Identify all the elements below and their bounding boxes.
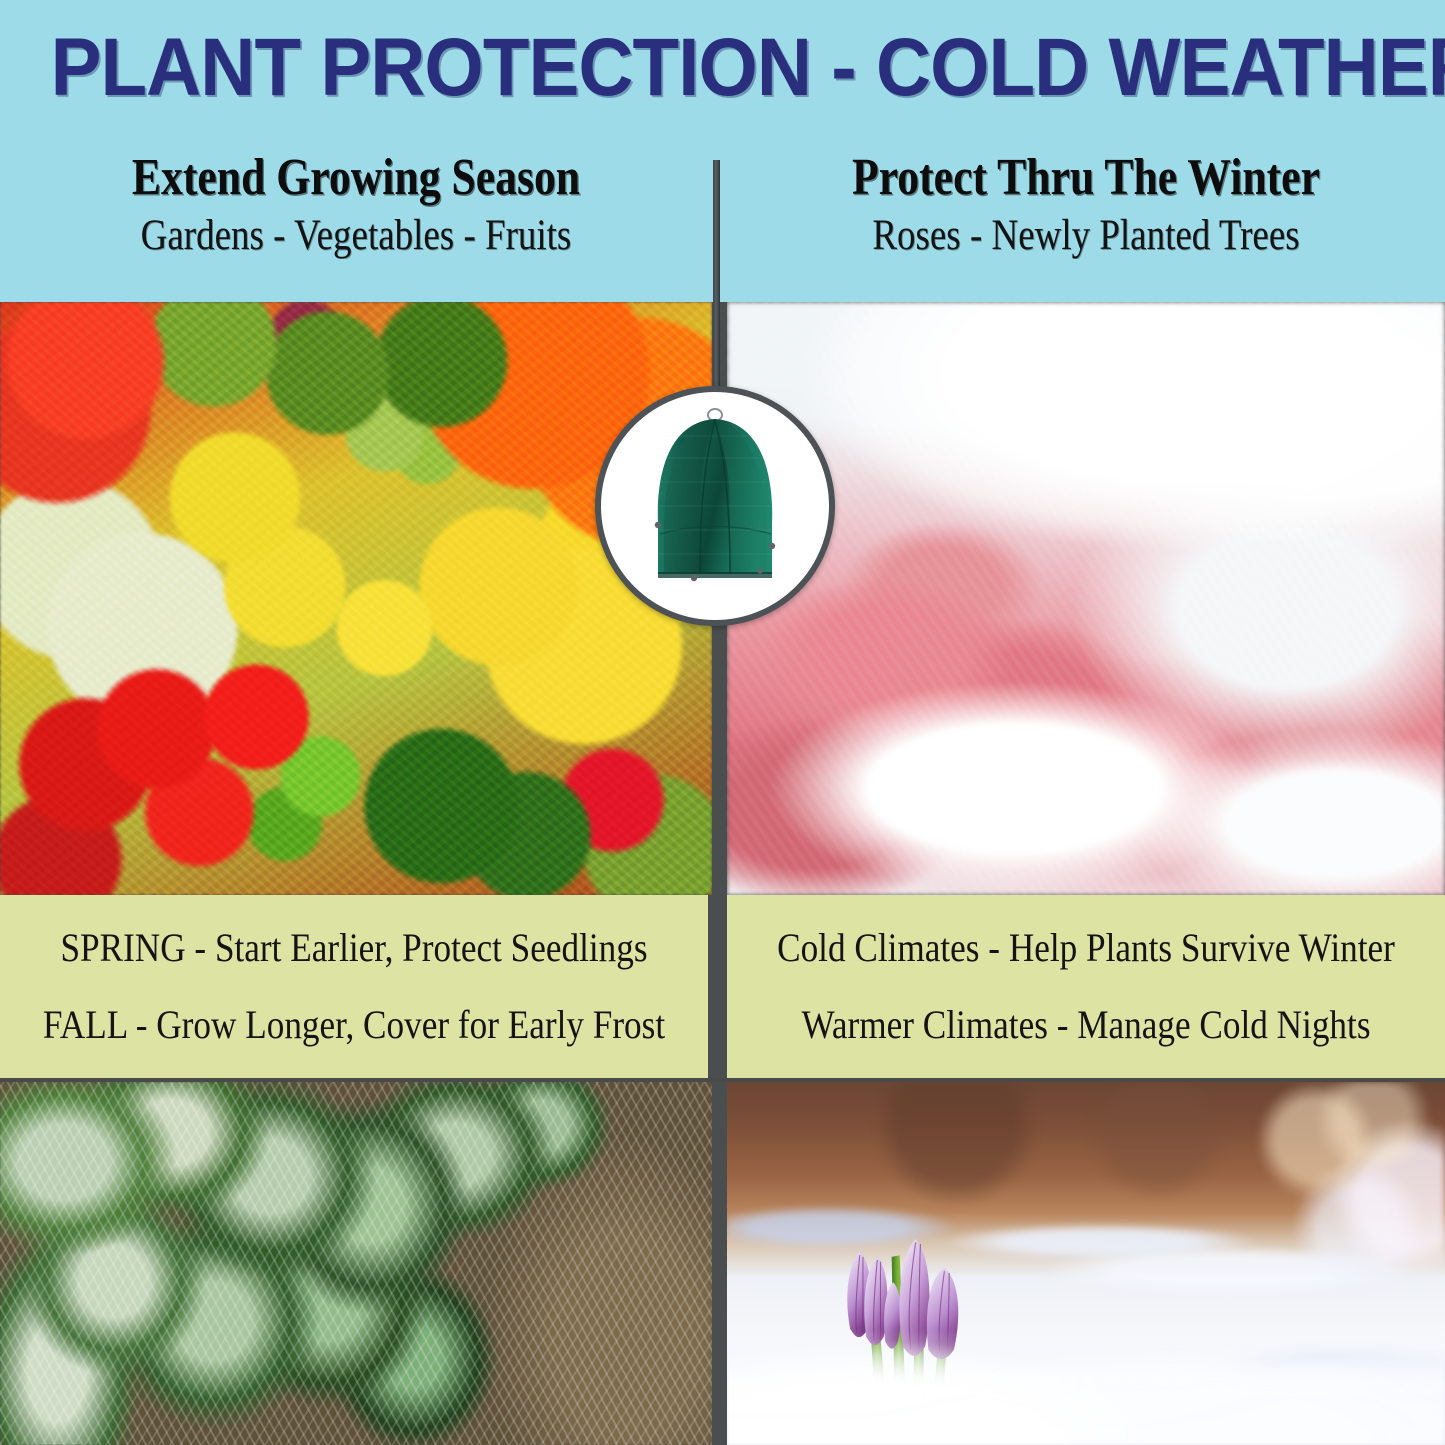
right-caption-cold-climates: Cold Climates - Help Plants Survive Wint… [770,925,1402,971]
header-vertical-divider [713,160,720,405]
left-subheading: Gardens - Vegetables - Fruits [50,210,662,262]
right-captions: Cold Climates - Help Plants Survive Wint… [727,895,1445,1078]
right-heading: Protect Thru The Winter [784,148,1387,208]
product-badge [595,386,835,626]
plant-cover-tent-icon [634,406,796,600]
left-caption-spring: SPRING - Start Earlier, Protect Seedling… [42,925,665,971]
right-column-header: Protect Thru The Winter Roses - Newly Pl… [727,148,1445,298]
left-caption-fall: FALL - Grow Longer, Cover for Early Fros… [42,1002,665,1048]
photo-crocus-snow [727,1082,1445,1445]
caption-band: SPRING - Start Earlier, Protect Seedling… [0,895,1445,1078]
right-subheading: Roses - Newly Planted Trees [777,210,1394,262]
header-band: PLANT PROTECTION - COLD WEATHER Extend G… [0,0,1445,302]
left-column-header: Extend Growing Season Gardens - Vegetabl… [0,148,712,298]
right-caption-warmer-climates: Warmer Climates - Manage Cold Nights [770,1002,1402,1048]
photo-frosty-cabbage [0,1082,712,1445]
left-captions: SPRING - Start Earlier, Protect Seedling… [0,895,708,1078]
photo-produce [0,302,712,895]
photo-snowy-hydrangea [727,302,1445,895]
page-title: PLANT PROTECTION - COLD WEATHER [51,22,1395,114]
left-heading: Extend Growing Season [57,148,655,208]
poster-root: PLANT PROTECTION - COLD WEATHER Extend G… [0,0,1445,1445]
bottom-photos-gap [712,1082,727,1445]
